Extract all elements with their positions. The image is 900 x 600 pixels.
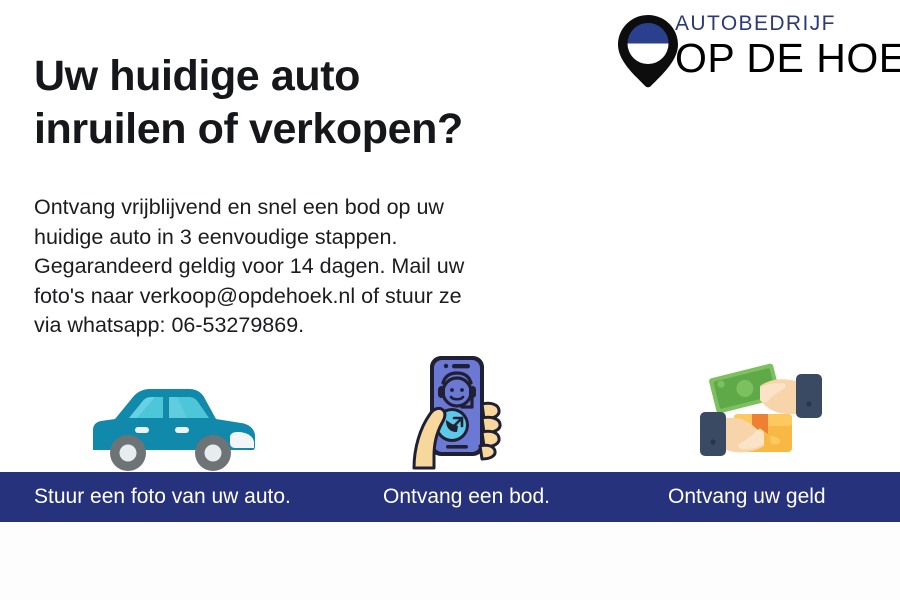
step-label-2: Ontvang een bod. — [383, 472, 550, 522]
headline: Uw huidige auto inruilen of verkopen? — [34, 50, 594, 156]
car-icon — [85, 380, 265, 472]
brand-name-top: AUTOBEDRIJF — [675, 12, 900, 36]
advertisement-banner: AUTOBEDRIJF OP DE HOEK Uw huidige auto i… — [0, 0, 900, 600]
body-copy: Ontvang vrijblijvend en snel een bod op … — [34, 193, 554, 341]
brand-name-bottom: OP DE HOEK — [675, 36, 900, 80]
steps-bar: Stuur een foto van uw auto. Ontvang een … — [0, 472, 900, 522]
steps-illustrations — [0, 350, 900, 472]
body-line-2: huidige auto in 3 eenvoudige stappen. — [34, 223, 554, 253]
body-line-4: foto's naar verkoop@opdehoek.nl of stuur… — [34, 282, 554, 312]
body-line-5: via whatsapp: 06-53279869. — [34, 311, 554, 341]
hands-exchanging-money-icon — [692, 352, 832, 472]
hand-holding-phone-icon — [404, 352, 514, 472]
body-line-1: Ontvang vrijblijvend en snel een bod op … — [34, 193, 554, 223]
headline-line-1: Uw huidige auto — [34, 50, 594, 103]
step-label-1: Stuur een foto van uw auto. — [34, 472, 291, 522]
brand-wordmark: AUTOBEDRIJF OP DE HOEK — [675, 12, 900, 80]
step-label-3: Ontvang uw geld — [668, 472, 826, 522]
bottom-filler — [0, 522, 900, 600]
body-line-3: Gegarandeerd geldig voor 14 dagen. Mail … — [34, 252, 554, 282]
map-pin-icon — [617, 14, 679, 88]
brand-logo: AUTOBEDRIJF OP DE HOEK — [617, 12, 900, 90]
headline-line-2: inruilen of verkopen? — [34, 103, 594, 156]
